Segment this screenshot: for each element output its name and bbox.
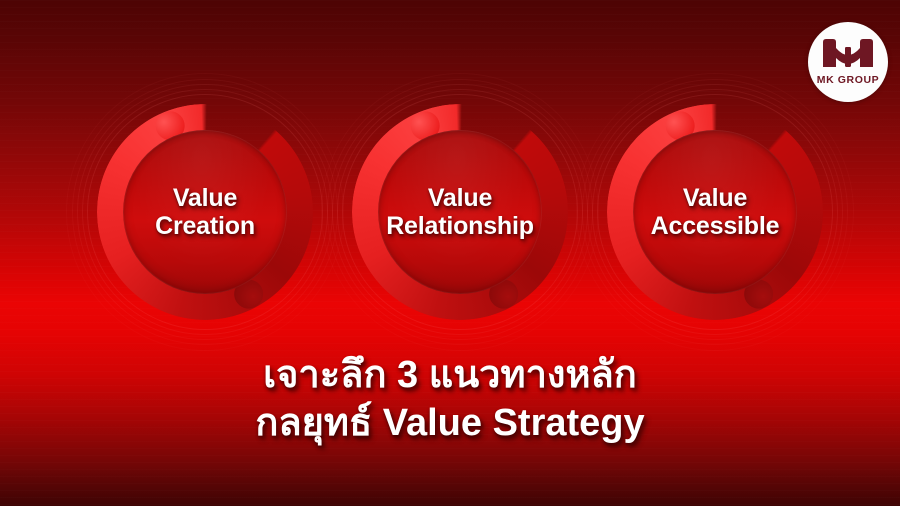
pillar-label-line1: Value — [75, 184, 335, 212]
pillar-label-line1: Value — [585, 184, 845, 212]
headline-line2: กลยุทธ์ Value Strategy — [0, 400, 900, 448]
pillar-label: Value Accessible — [585, 184, 845, 240]
pillar-label: Value Creation — [75, 184, 335, 240]
logo-brand-text: MK GROUP — [817, 75, 880, 86]
pillar-label-line2: Accessible — [585, 212, 845, 240]
pillar-label-line2: Creation — [75, 212, 335, 240]
pillar-card-value-relationship[interactable]: Value Relationship — [330, 82, 590, 342]
pillar-card-value-accessible[interactable]: Value Accessible — [585, 82, 845, 342]
headline: เจาะลึก 3 แนวทางหลัก กลยุทธ์ Value Strat… — [0, 352, 900, 447]
mk-group-logo[interactable]: MK GROUP — [808, 22, 888, 102]
headline-line1: เจาะลึก 3 แนวทางหลัก — [0, 352, 900, 400]
pillar-label-line1: Value — [330, 184, 590, 212]
poster-canvas: Value Creation Value Relationship Value — [0, 0, 900, 506]
mk-monogram-icon — [822, 38, 874, 73]
pillar-label: Value Relationship — [330, 184, 590, 240]
pillar-label-line2: Relationship — [330, 212, 590, 240]
pillar-card-value-creation[interactable]: Value Creation — [75, 82, 335, 342]
